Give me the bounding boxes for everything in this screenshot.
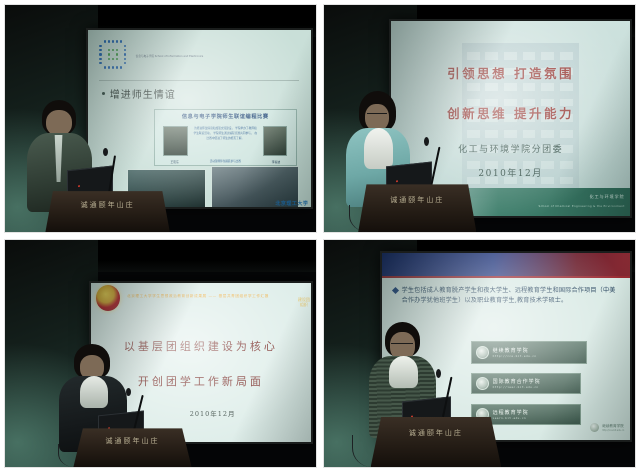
scene-room: 信息与电子学院 School of Information and Electr…: [5, 5, 316, 232]
shirt-collar: [389, 356, 417, 388]
podium-nameplate: 诚通颐年山庄: [381, 430, 491, 447]
podium-nameplate: 诚通颐年山庄: [368, 197, 467, 213]
photo-collage: 信息与电子学院 School of Information and Electr…: [0, 0, 640, 472]
scene-room: 引领思想 打造氛围 创新思维 提升能力 化工与环境学院分团委 2010年12月 …: [324, 5, 635, 232]
scene-room: 学生包括成人教育脱产学生和夜大学生、远程教育学生和国际合作项目（中美合作办学犹他…: [324, 240, 635, 467]
screen-frame: [86, 28, 313, 210]
podium: 诚通颐年山庄: [371, 417, 502, 467]
photo-panel-bottom-right[interactable]: 学生包括成人教育脱产学生和夜大学生、远程教育学生和国际合作项目（中美合作办学犹他…: [323, 239, 636, 468]
glasses-icon: [391, 343, 413, 344]
photo-panel-bottom-left[interactable]: 北京理工大学学生思想政治教育创新成果展 —— 基层共青团组织学工作汇报 建设团组…: [4, 239, 317, 468]
face: [46, 110, 73, 136]
shirt-collar: [80, 376, 108, 408]
podium: 诚通颐年山庄: [45, 191, 169, 232]
glasses-icon: [367, 113, 388, 114]
photo-panel-top-right[interactable]: 引领思想 打造氛围 创新思维 提升能力 化工与环境学院分团委 2010年12月 …: [323, 4, 636, 233]
microphone-head-icon: [424, 137, 429, 146]
podium: 诚通颐年山庄: [73, 428, 191, 467]
face: [365, 104, 389, 131]
photo-panel-top-left[interactable]: 信息与电子学院 School of Information and Electr…: [4, 4, 317, 233]
podium-nameplate: 诚通颐年山庄: [55, 202, 159, 216]
projection-screen: 信息与电子学院 School of Information and Electr…: [86, 28, 313, 210]
scene-room: 北京理工大学学生思想政治教育创新成果展 —— 基层共青团组织学工作汇报 建设团组…: [5, 240, 316, 467]
laptop-indicator-icon: [78, 185, 80, 187]
blouse: [364, 128, 394, 169]
microphone-head-icon: [103, 148, 108, 156]
laptop-indicator-icon: [396, 181, 398, 183]
podium-nameplate: 诚通颐年山庄: [83, 438, 182, 451]
